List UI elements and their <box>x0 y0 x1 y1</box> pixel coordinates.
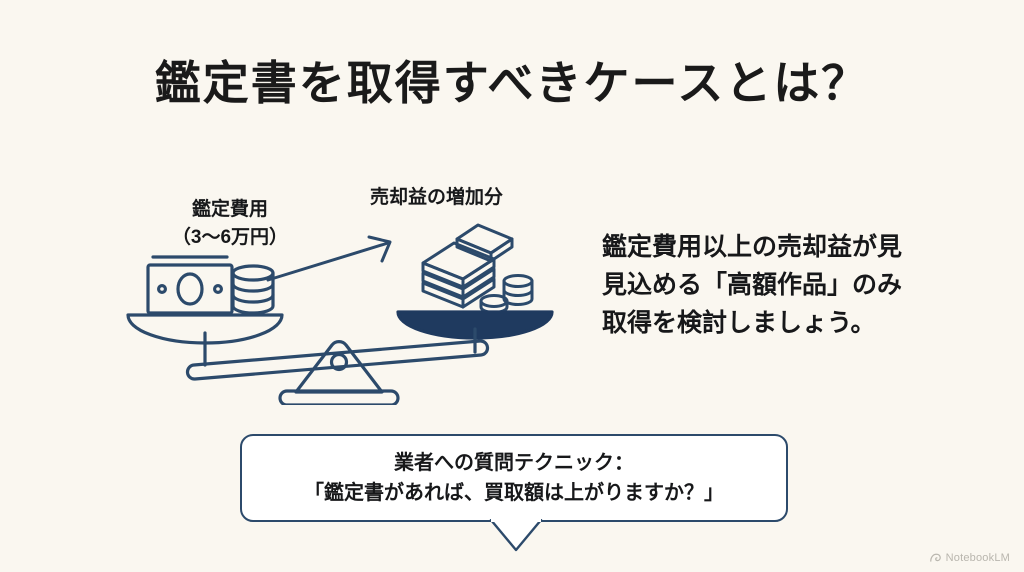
question-tip-callout: 業者への質問テクニック： 「鑑定書があれば、買取額は上がりますか？」 <box>240 434 788 522</box>
notebooklm-logo-icon <box>929 551 942 564</box>
sale-gain-label: 売却益の増加分 <box>370 182 503 209</box>
key-message: 鑑定費用以上の売却益が見 見込める「高額作品」のみ 取得を検討しましょう。 <box>602 228 972 342</box>
scale-beam <box>187 341 487 379</box>
watermark-label: NotebookLM <box>946 552 1010 564</box>
notebooklm-watermark: NotebookLM <box>929 551 1010 564</box>
balance-scale-illustration <box>120 215 560 405</box>
coin-stack-icon <box>233 266 273 313</box>
banknote-icon <box>148 257 232 313</box>
key-message-line2: 見込める「高額作品」のみ <box>602 266 972 304</box>
callout-line-2: 「鑑定書があれば、買取額は上がりますか？」 <box>304 478 724 508</box>
key-message-line1: 鑑定費用以上の売却益が見 <box>602 228 972 266</box>
callout-line-1: 業者への質問テクニック： <box>394 448 634 478</box>
slide-canvas: 鑑定書を取得すべきケースとは？ 鑑定費用 （3〜6万円） 売却益の増加分 <box>0 0 1024 572</box>
key-message-line3: 取得を検討しましょう。 <box>602 304 972 342</box>
left-pan <box>128 315 282 365</box>
growth-arrow <box>268 237 390 280</box>
callout-tail <box>489 519 543 553</box>
page-title: 鑑定書を取得すべきケースとは？ <box>0 47 1024 113</box>
